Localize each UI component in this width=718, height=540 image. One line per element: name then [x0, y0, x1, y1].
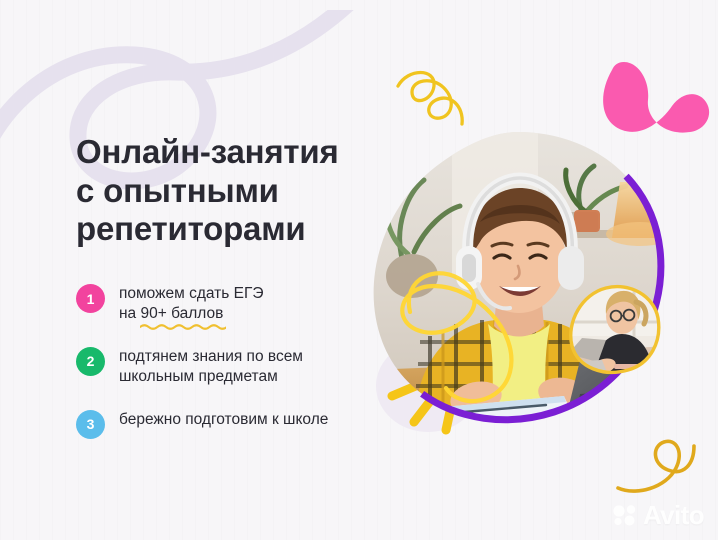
- headline-line-3: репетиторами: [76, 210, 376, 249]
- headline: Онлайн-занятия с опытными репетиторами: [76, 133, 376, 249]
- yellow-loop-icon: [610, 430, 700, 500]
- avito-watermark: Avito: [612, 502, 704, 528]
- bullet-1-prefix: на: [119, 305, 141, 322]
- bullet-number-3: 3: [76, 410, 105, 439]
- bullet-text-3: бережно подготовим к школе: [119, 409, 328, 430]
- bullet-1-highlight: 90+ баллов: [141, 305, 224, 322]
- benefits-list: 1 поможем сдать ЕГЭ на 90+ баллов 2 подт…: [76, 283, 396, 439]
- bullet-1-line-2: на 90+ баллов: [119, 304, 264, 324]
- avito-wordmark: Avito: [643, 502, 704, 528]
- bullet-2-line-2: школьным предметам: [119, 367, 303, 387]
- bullet-2-line-1: подтянем знания по всем: [119, 347, 303, 367]
- promo-banner: Онлайн-занятия с опытными репетиторами 1…: [0, 0, 718, 540]
- bullet-number-2: 2: [76, 347, 105, 376]
- headline-line-2: с опытными: [76, 172, 376, 211]
- headline-line-1: Онлайн-занятия: [76, 133, 376, 172]
- student-photo-illustration: [368, 126, 668, 426]
- bullet-text-1: поможем сдать ЕГЭ на 90+ баллов: [119, 283, 264, 325]
- list-item: 2 подтянем знания по всем школьным предм…: [76, 346, 396, 388]
- yellow-spiral-icon: [392, 62, 482, 134]
- bullet-3-line-1: бережно подготовим к школе: [119, 410, 328, 430]
- bullet-1-line-1: поможем сдать ЕГЭ: [119, 284, 264, 304]
- list-item: 3 бережно подготовим к школе: [76, 409, 396, 439]
- bullet-text-2: подтянем знания по всем школьным предмет…: [119, 346, 303, 388]
- avito-logo-icon: [612, 504, 638, 526]
- wavy-underline-icon: [140, 323, 227, 330]
- student-photo: [368, 126, 668, 426]
- bullet-number-1: 1: [76, 284, 105, 313]
- bullet-1-highlight-wrap: 90+ баллов: [141, 304, 224, 324]
- list-item: 1 поможем сдать ЕГЭ на 90+ баллов: [76, 283, 396, 325]
